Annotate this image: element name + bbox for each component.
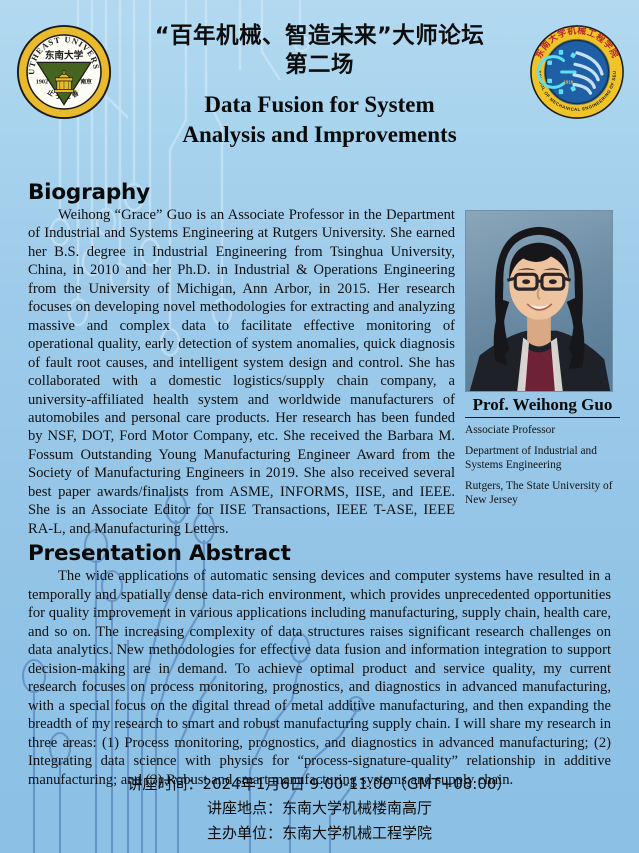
talk-title-en-line2: Analysis and Improvements: [120, 120, 520, 150]
talk-title-en: Data Fusion for System Analysis and Impr…: [120, 90, 520, 151]
title-block: “百年机械、智造未来”大师论坛 第二场 Data Fusion for Syst…: [120, 0, 520, 150]
speaker-name-divider: [465, 417, 620, 418]
svg-text:1902: 1902: [36, 80, 48, 86]
affiliation-line-1: Department of Industrial and Systems Eng…: [465, 444, 621, 473]
speaker-photo: [465, 210, 613, 392]
speaker-name: Prof. Weihong Guo: [465, 395, 620, 415]
event-venue: 讲座地点：东南大学机械楼南高厅: [0, 796, 639, 820]
poster-header: SOUTHEAST UNIVERSITY 止于至善 东南大学 1902 南京: [0, 0, 639, 178]
seminar-poster: SOUTHEAST UNIVERSITY 止于至善 东南大学 1902 南京: [0, 0, 639, 853]
speaker-card: Prof. Weihong Guo Associate Professor De…: [465, 206, 625, 508]
biography-text: Weihong “Grace” Guo is an Associate Prof…: [14, 206, 455, 538]
forum-title-cn-line1: “百年机械、智造未来”大师论坛: [120, 22, 520, 51]
svg-text:1916: 1916: [563, 80, 573, 85]
abstract-text: The wide applications of automatic sensi…: [14, 567, 625, 789]
svg-text:南京: 南京: [80, 78, 92, 86]
event-time: 讲座时间：2024年1月6日 9:00-11:00（GMT+08:00）: [0, 772, 639, 796]
school-of-mechanical-engineering-seal-logo: 东南大学机械工程学院 SCHOOL OF MECHANICAL ENGINEER…: [529, 24, 625, 120]
event-details-footer: 讲座时间：2024年1月6日 9:00-11:00（GMT+08:00） 讲座地…: [0, 772, 639, 845]
svg-text:东南大学: 东南大学: [45, 50, 84, 62]
southeast-university-seal-logo: SOUTHEAST UNIVERSITY 止于至善 东南大学 1902 南京: [16, 24, 112, 120]
biography-row: Weihong “Grace” Guo is an Associate Prof…: [14, 206, 625, 538]
affiliation-line-0: Associate Professor: [465, 423, 621, 438]
abstract-heading: Presentation Abstract: [28, 541, 625, 566]
biography-heading: Biography: [28, 180, 625, 205]
affiliation-line-2: Rutgers, The State University of New Jer…: [465, 479, 621, 508]
forum-title-cn: “百年机械、智造未来”大师论坛 第二场: [120, 22, 520, 81]
poster-body: Biography Weihong “Grace” Guo is an Asso…: [0, 180, 639, 790]
speaker-affiliation: Associate Professor Department of Indust…: [465, 423, 621, 508]
talk-title-en-line1: Data Fusion for System: [120, 90, 520, 120]
forum-title-cn-line2: 第二场: [120, 51, 520, 80]
event-organizer: 主办单位：东南大学机械工程学院: [0, 821, 639, 845]
